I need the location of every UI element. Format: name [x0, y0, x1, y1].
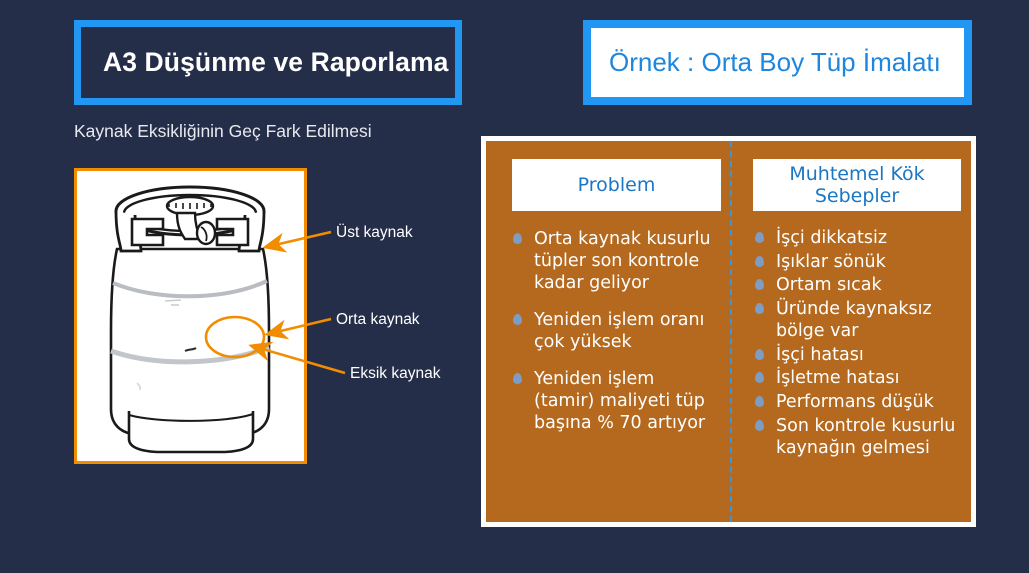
- problem-analysis-panel: Problem Orta kaynak kusurlu tüpler son k…: [481, 136, 976, 527]
- callout-label-orta-kaynak: Orta kaynak: [336, 311, 420, 329]
- slide-canvas: A3 Düşünme ve Raporlama Kaynak Eksikliği…: [0, 0, 1029, 573]
- left-subtitle: Kaynak Eksikliğinin Geç Fark Edilmesi: [74, 121, 372, 142]
- list-item: İşçi hatası: [753, 344, 961, 367]
- bullet-dot-icon: [755, 279, 764, 290]
- list-item-label: İşçi dikkatsiz: [776, 228, 887, 248]
- list-item: İşletme hatası: [753, 367, 961, 390]
- left-title-inner: A3 Düşünme ve Raporlama: [81, 27, 455, 98]
- bullet-dot-icon: [513, 233, 522, 244]
- callout-label-ust-kaynak: Üst kaynak: [336, 224, 413, 242]
- list-item-label: Performans düşük: [776, 392, 934, 412]
- bullet-dot-icon: [755, 256, 764, 267]
- list-item-label: Ortam sıcak: [776, 275, 882, 295]
- bullet-dot-icon: [755, 303, 764, 314]
- list-item-label: Son kontrole kusurlu kaynağın gelmesi: [776, 416, 955, 459]
- list-item: İşçi dikkatsiz: [753, 227, 961, 250]
- bullet-dot-icon: [755, 232, 764, 243]
- right-title-inner: Örnek : Orta Boy Tüp İmalatı: [591, 28, 964, 97]
- list-item-label: Yeniden işlem (tamir) maliyeti tüp başın…: [534, 369, 705, 433]
- list-item: Yeniden işlem (tamir) maliyeti tüp başın…: [511, 368, 720, 434]
- cylinder-foot-ring: [129, 411, 253, 452]
- column-problem-header: Problem: [512, 159, 721, 211]
- list-item: Işıklar sönük: [753, 251, 961, 274]
- column-root-causes-header: Muhtemel Kök Sebepler: [753, 159, 961, 211]
- list-item: Performans düşük: [753, 391, 961, 414]
- column-problem: Problem Orta kaynak kusurlu tüpler son k…: [486, 141, 730, 522]
- list-item-label: İşletme hatası: [776, 368, 900, 388]
- bullet-dot-icon: [755, 349, 764, 360]
- column-root-causes: Muhtemel Kök Sebepler İşçi dikkatsiz Işı…: [730, 141, 971, 522]
- bullet-dot-icon: [513, 373, 522, 384]
- bullet-dot-icon: [755, 396, 764, 407]
- list-item: Üründe kaynaksız bölge var: [753, 298, 961, 343]
- left-title-box: A3 Düşünme ve Raporlama: [74, 20, 462, 105]
- root-causes-list: İşçi dikkatsiz Işıklar sönük Ortam sıcak…: [753, 227, 961, 460]
- cylinder-body: [111, 249, 269, 435]
- bullet-dot-icon: [755, 372, 764, 383]
- list-item: Orta kaynak kusurlu tüpler son kontrole …: [511, 228, 720, 294]
- gas-cylinder-illustration: [77, 171, 304, 461]
- list-item: Son kontrole kusurlu kaynağın gelmesi: [753, 415, 961, 460]
- problem-list: Orta kaynak kusurlu tüpler son kontrole …: [511, 228, 720, 434]
- list-item-label: Üründe kaynaksız bölge var: [776, 299, 932, 342]
- bullet-dot-icon: [755, 420, 764, 431]
- list-item: Ortam sıcak: [753, 274, 961, 297]
- list-item: Yeniden işlem oranı çok yüksek: [511, 309, 720, 353]
- list-item-label: Işıklar sönük: [776, 252, 886, 272]
- right-title-box: Örnek : Orta Boy Tüp İmalatı: [583, 20, 972, 105]
- list-item-label: İşçi hatası: [776, 345, 864, 365]
- list-item-label: Yeniden işlem oranı çok yüksek: [534, 310, 704, 352]
- list-item-label: Orta kaynak kusurlu tüpler son kontrole …: [534, 229, 711, 293]
- bullet-dot-icon: [513, 314, 522, 325]
- cylinder-image-frame: [74, 168, 307, 464]
- callout-label-eksik-kaynak: Eksik kaynak: [350, 365, 440, 383]
- example-title: Örnek : Orta Boy Tüp İmalatı: [609, 47, 941, 78]
- panel-body: Problem Orta kaynak kusurlu tüpler son k…: [486, 141, 971, 522]
- page-title: A3 Düşünme ve Raporlama: [103, 47, 448, 78]
